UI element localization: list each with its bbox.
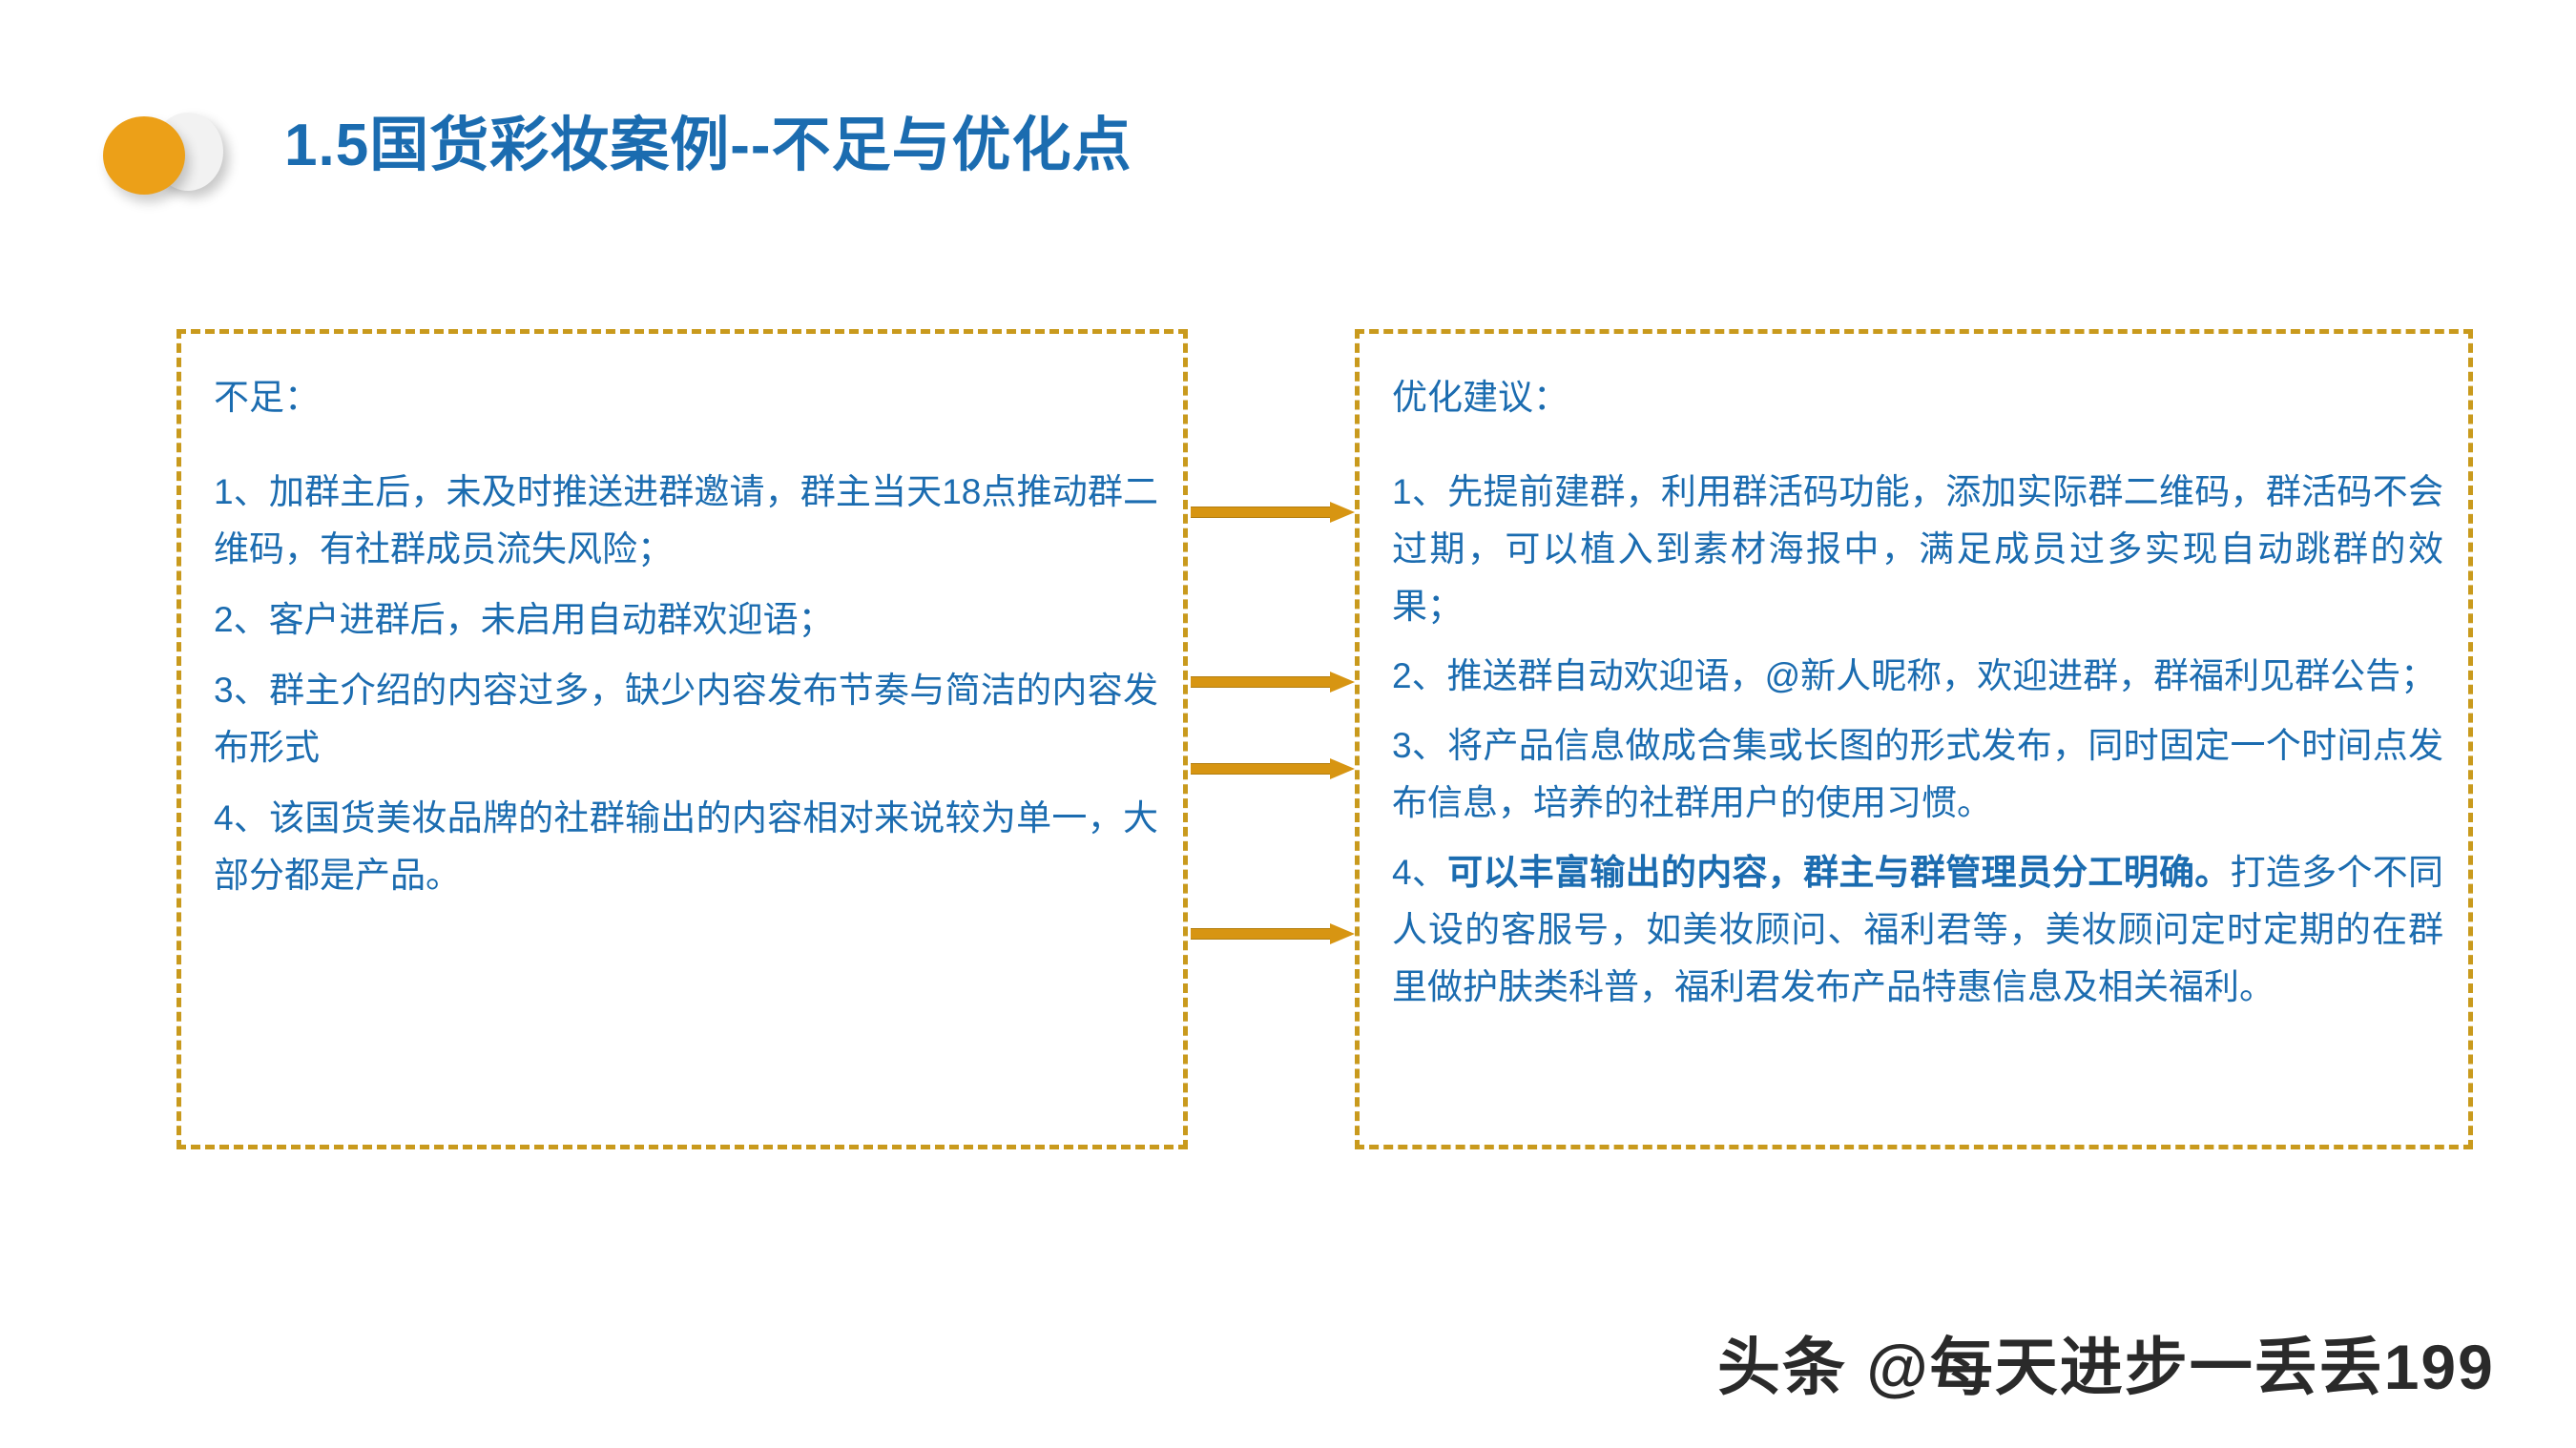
watermark: 头条 @每天进步一丢丢199 xyxy=(1717,1316,2495,1408)
list-item: 1、先提前建群，利用群活码功能，添加实际群二维码，群活码不会过期，可以植入到素材… xyxy=(1392,464,2443,635)
arrow-right-icon-3 xyxy=(1191,758,1355,779)
page-title: 1.5国货彩妆案例--不足与优化点 xyxy=(284,116,1132,176)
suggestions-panel: 优化建议： 1、先提前建群，利用群活码功能，添加实际群二维码，群活码不会过期，可… xyxy=(1355,329,2473,1149)
list-item: 1、加群主后，未及时推送进群邀请，群主当天18点推动群二维码，有社群成员流失风险… xyxy=(214,464,1158,578)
arrow-right-icon-1 xyxy=(1191,502,1355,523)
shortcomings-heading: 不足： xyxy=(214,376,1158,420)
list-item: 4、可以丰富输出的内容，群主与群管理员分工明确。打造多个不同人设的客服号，如美妆… xyxy=(1392,844,2443,1016)
suggestions-list: 1、先提前建群，利用群活码功能，添加实际群二维码，群活码不会过期，可以植入到素材… xyxy=(1392,464,2443,1015)
suggestions-panel-body: 优化建议： 1、先提前建群，利用群活码功能，添加实际群二维码，群活码不会过期，可… xyxy=(1360,334,2468,1016)
arrow-right-icon-2 xyxy=(1191,672,1355,693)
slide-canvas: 1.5国货彩妆案例--不足与优化点 不足： 1、加群主后，未及时推送进群邀请，群… xyxy=(0,0,2576,1448)
list-item-emphasis: 可以丰富输出的内容，群主与群管理员分工明确。 xyxy=(1447,853,2230,892)
slide-header: 1.5国货彩妆案例--不足与优化点 xyxy=(0,0,2576,248)
list-item-prefix: 4、 xyxy=(1392,853,1447,892)
list-item: 3、群主介绍的内容过多，缺少内容发布节奏与简洁的内容发布形式 xyxy=(214,662,1158,776)
list-item: 2、客户进群后，未启用自动群欢迎语； xyxy=(214,591,1158,649)
list-item: 3、将产品信息做成合集或长图的形式发布，同时固定一个时间点发布信息，培养的社群用… xyxy=(1392,717,2443,832)
list-item-text: 2、推送群自动欢迎语，@新人昵称，欢迎进群，群福利见群公告； xyxy=(1392,656,2436,695)
arrow-right-icon-4 xyxy=(1191,923,1355,944)
list-item-text: 1、先提前建群，利用群活码功能，添加实际群二维码，群活码不会过期，可以植入到素材… xyxy=(1392,472,2443,626)
orange-circle-icon xyxy=(103,116,185,195)
suggestions-heading: 优化建议： xyxy=(1392,376,2443,420)
shortcomings-list: 1、加群主后，未及时推送进群邀请，群主当天18点推动群二维码，有社群成员流失风险… xyxy=(214,464,1158,904)
list-item: 4、该国货美妆品牌的社群输出的内容相对来说较为单一，大部分都是产品。 xyxy=(214,790,1158,904)
list-item-text: 3、将产品信息做成合集或长图的形式发布，同时固定一个时间点发布信息，培养的社群用… xyxy=(1392,726,2443,822)
shortcomings-panel: 不足： 1、加群主后，未及时推送进群邀请，群主当天18点推动群二维码，有社群成员… xyxy=(177,329,1188,1149)
list-item: 2、推送群自动欢迎语，@新人昵称，欢迎进群，群福利见群公告； xyxy=(1392,648,2443,705)
shortcomings-panel-body: 不足： 1、加群主后，未及时推送进群邀请，群主当天18点推动群二维码，有社群成员… xyxy=(181,334,1183,904)
circles-decoration-icon xyxy=(103,113,223,195)
